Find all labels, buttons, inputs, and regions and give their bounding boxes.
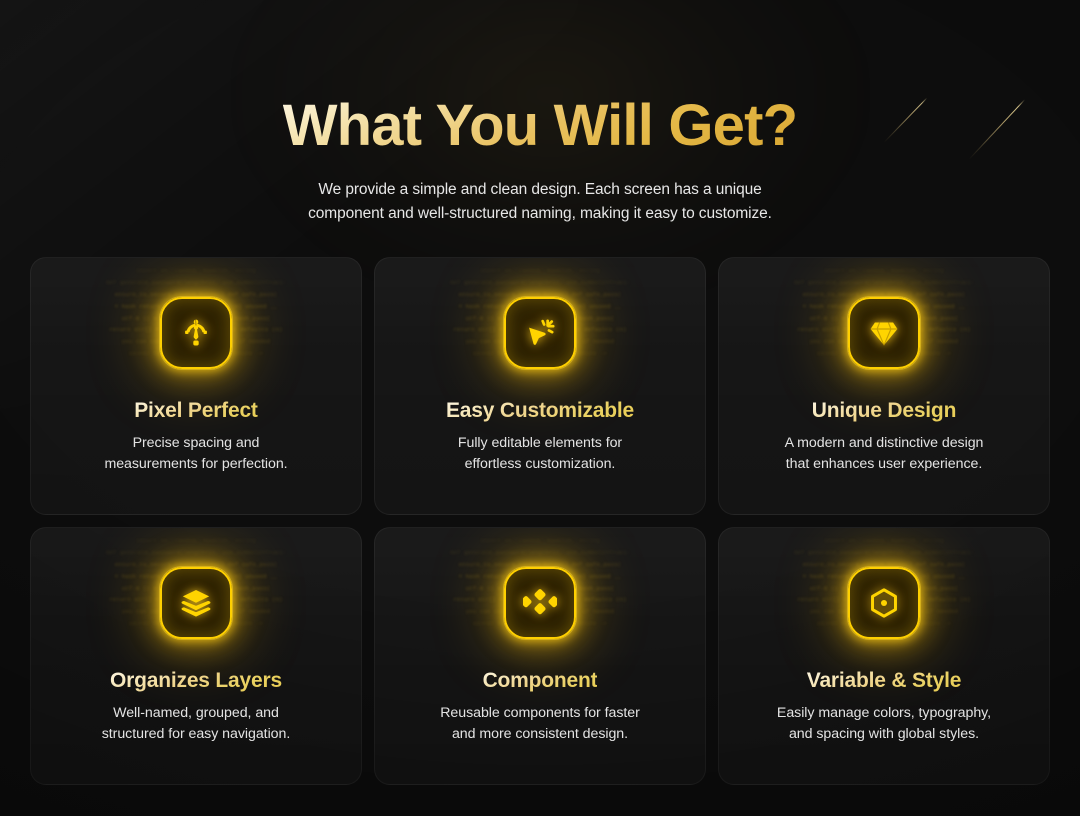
feature-card-title: Pixel Perfect (134, 399, 257, 423)
component-diamonds-icon (523, 586, 557, 620)
cursor-click-icon (523, 316, 557, 350)
feature-card-description-line-2: structured for easy navigation. (102, 724, 291, 745)
feature-card-description: Fully editable elements foreffortless cu… (458, 433, 622, 474)
hexagon-dot-icon-badge[interactable] (848, 567, 920, 639)
cursor-click-icon-badge[interactable] (504, 297, 576, 369)
page-subtitle-line-1: We provide a simple and clean design. Ea… (0, 178, 1080, 202)
layers-stack-icon-badge[interactable] (160, 567, 232, 639)
feature-card[interactable]: import os, random, hashlib, stringdef ge… (30, 257, 362, 515)
feature-card[interactable]: import os, random, hashlib, stringdef ge… (374, 527, 706, 785)
feature-card[interactable]: import os, random, hashlib, stringdef ge… (374, 257, 706, 515)
feature-card-description-line-2: and spacing with global styles. (777, 724, 991, 745)
page-subtitle: We provide a simple and clean design. Ea… (0, 178, 1080, 226)
feature-card-title: Variable & Style (807, 669, 961, 693)
feature-card-description-line-1: Easily manage colors, typography, (777, 703, 991, 724)
component-diamonds-icon-badge[interactable] (504, 567, 576, 639)
feature-card[interactable]: import os, random, hashlib, stringdef ge… (718, 257, 1050, 515)
feature-card-description: Easily manage colors, typography,and spa… (777, 703, 991, 744)
feature-card-description-line-2: that enhances user experience. (785, 454, 984, 475)
pen-nib-icon-badge[interactable] (160, 297, 232, 369)
feature-card[interactable]: import os, random, hashlib, stringdef ge… (30, 527, 362, 785)
feature-card-description-line-1: Reusable components for faster (440, 703, 640, 724)
page-subtitle-line-2: component and well-structured naming, ma… (0, 202, 1080, 226)
feature-card-title: Organizes Layers (110, 669, 282, 693)
feature-card-description: Precise spacing andmeasurements for perf… (104, 433, 287, 474)
feature-card-title: Unique Design (812, 399, 956, 423)
feature-card-grid: import os, random, hashlib, stringdef ge… (30, 257, 1050, 785)
diamond-gem-icon-badge[interactable] (848, 297, 920, 369)
page-title: What You Will Get? (283, 96, 798, 157)
feature-card-description-line-1: Well-named, grouped, and (102, 703, 291, 724)
hexagon-dot-icon (867, 586, 901, 620)
layers-stack-icon (179, 586, 213, 620)
feature-card-description: A modern and distinctive designthat enha… (785, 433, 984, 474)
feature-card-description-line-2: effortless customization. (458, 454, 622, 475)
page-root: What You Will Get? We provide a simple a… (0, 0, 1080, 816)
feature-card-title: Easy Customizable (446, 399, 634, 423)
feature-card-title: Component (483, 669, 598, 693)
feature-card-description: Well-named, grouped, andstructured for e… (102, 703, 291, 744)
pen-nib-icon (179, 316, 213, 350)
feature-card-description: Reusable components for fasterand more c… (440, 703, 640, 744)
feature-card-description-line-1: Precise spacing and (104, 433, 287, 454)
feature-card-description-line-2: measurements for perfection. (104, 454, 287, 475)
diamond-gem-icon (867, 316, 901, 350)
section-header: What You Will Get? We provide a simple a… (0, 0, 1080, 226)
feature-card-description-line-1: Fully editable elements for (458, 433, 622, 454)
feature-card-description-line-2: and more consistent design. (440, 724, 640, 745)
feature-card-description-line-1: A modern and distinctive design (785, 433, 984, 454)
feature-card[interactable]: import os, random, hashlib, stringdef ge… (718, 527, 1050, 785)
